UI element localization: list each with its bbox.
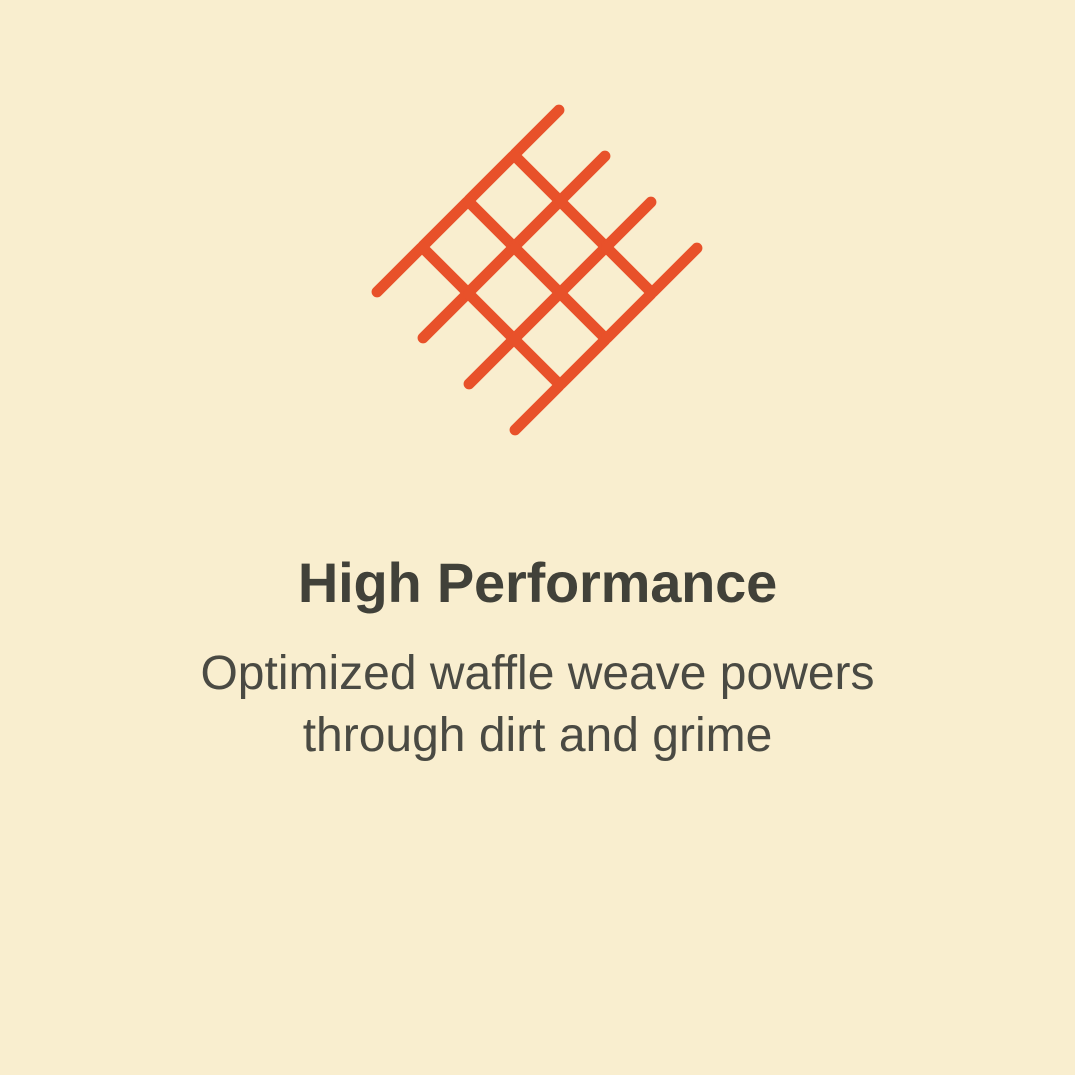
weave-dash xyxy=(561,202,605,246)
weave-dash xyxy=(423,248,467,292)
waffle-weave-icon xyxy=(0,0,1075,540)
weave-dash xyxy=(423,202,467,246)
weave-dash xyxy=(469,156,513,200)
weave-dash xyxy=(607,202,651,246)
weave-dash xyxy=(377,248,421,292)
weave-dash xyxy=(469,340,513,384)
weave-dash xyxy=(561,340,605,384)
weave-dash xyxy=(653,248,697,292)
weave-dash xyxy=(561,156,605,200)
weave-dash xyxy=(515,202,559,246)
feature-description: Optimized waffle weave powers through di… xyxy=(200,643,874,768)
weave-dash xyxy=(515,386,559,430)
weave-dash xyxy=(469,294,513,338)
weave-dash xyxy=(607,294,651,338)
weave-dash xyxy=(561,248,605,292)
weave-dash xyxy=(515,110,559,154)
feature-text-block: High Performance Optimized waffle weave … xyxy=(0,552,1075,768)
weave-dash xyxy=(515,340,559,384)
weave-dash xyxy=(469,202,513,246)
weave-dash xyxy=(607,248,651,292)
weave-dash xyxy=(515,294,559,338)
weave-dash xyxy=(423,294,467,338)
weave-dash xyxy=(469,248,513,292)
page-title: High Performance xyxy=(298,552,777,615)
description-line-2: through dirt and grime xyxy=(200,705,874,767)
description-line-1: Optimized waffle weave powers xyxy=(200,643,874,705)
weave-dash xyxy=(561,294,605,338)
weave-dash xyxy=(515,248,559,292)
waffle-weave-icon-container xyxy=(0,0,1075,540)
weave-dash xyxy=(515,156,559,200)
feature-card: High Performance Optimized waffle weave … xyxy=(0,0,1075,1075)
